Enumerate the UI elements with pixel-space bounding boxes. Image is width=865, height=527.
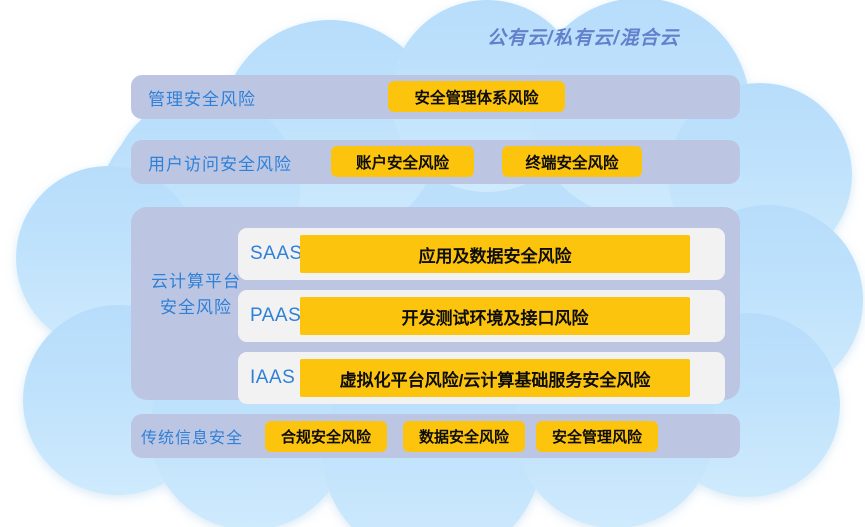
chip-account-security-risk[interactable]: 账户安全风险 <box>331 146 474 177</box>
chip-compliance-security-risk[interactable]: 合规安全风险 <box>265 421 387 452</box>
band-management-risk[interactable]: 管理安全风险 安全管理体系风险 <box>131 75 740 119</box>
panel-cloud-platform-risk[interactable]: 云计算平台 安全风险 SAAS 应用及数据安全风险 PAAS 开发测试环境及接口… <box>131 207 740 400</box>
chip-data-security-risk[interactable]: 数据安全风险 <box>403 421 525 452</box>
chip-virtualization-and-infrastructure-security-risk[interactable]: 虚拟化平台风险/云计算基础服务安全风险 <box>300 359 690 397</box>
diagram-canvas: 公有云/私有云/混合云 管理安全风险 安全管理体系风险 用户访问安全风险 账户安… <box>0 0 865 527</box>
service-row-saas[interactable]: SAAS 应用及数据安全风险 <box>238 228 725 280</box>
service-tag-paas: PAAS <box>250 290 301 342</box>
service-row-paas[interactable]: PAAS 开发测试环境及接口风险 <box>238 290 725 342</box>
panel-label-line-2: 安全风险 <box>143 295 249 321</box>
chip-endpoint-security-risk[interactable]: 终端安全风险 <box>502 146 642 177</box>
band-traditional-info-security[interactable]: 传统信息安全 合规安全风险 数据安全风险 安全管理风险 <box>131 414 740 458</box>
chip-dev-test-environment-and-interface-risk[interactable]: 开发测试环境及接口风险 <box>300 297 690 335</box>
chip-security-management-risk[interactable]: 安全管理风险 <box>536 421 658 452</box>
band-traditional-label: 传统信息安全 <box>141 424 243 448</box>
panel-label-line-1: 云计算平台 <box>143 269 249 295</box>
chip-security-management-system-risk[interactable]: 安全管理体系风险 <box>388 81 565 112</box>
band-user-access-label: 用户访问安全风险 <box>148 150 292 175</box>
chip-application-and-data-security-risk[interactable]: 应用及数据安全风险 <box>300 235 690 273</box>
band-management-label: 管理安全风险 <box>148 85 256 110</box>
service-tag-saas: SAAS <box>250 228 303 280</box>
service-tag-iaas: IAAS <box>250 352 295 404</box>
band-user-access-risk[interactable]: 用户访问安全风险 账户安全风险 终端安全风险 <box>131 140 740 184</box>
service-row-iaas[interactable]: IAAS 虚拟化平台风险/云计算基础服务安全风险 <box>238 352 725 404</box>
cloud-caption: 公有云/私有云/混合云 <box>487 23 680 50</box>
panel-cloud-platform-label: 云计算平台 安全风险 <box>143 269 249 321</box>
